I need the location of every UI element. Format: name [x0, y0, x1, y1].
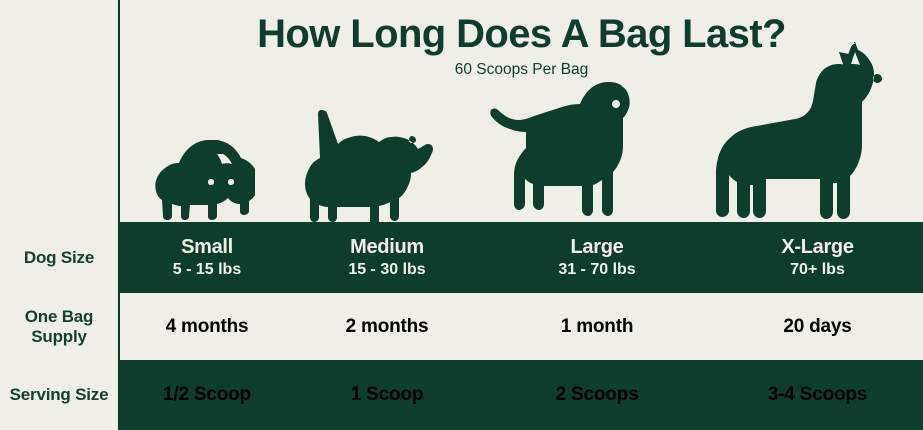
weight-range-large: 31 - 70 lbs [558, 261, 635, 279]
supply-value-medium: 2 months [346, 316, 429, 338]
serving-value-large: 2 Scoops [556, 384, 639, 406]
size-name-large: Large [571, 236, 624, 258]
row-label-serving-size: Serving Size [0, 360, 118, 430]
cell-supply-large: 1 month [482, 293, 712, 360]
row-label-dog-size: Dog Size [0, 222, 118, 293]
supply-value-xlarge: 20 days [783, 316, 851, 338]
supply-value-small: 4 months [166, 316, 249, 338]
row-serving-size-cells: 1/2 Scoop 1 Scoop 2 Scoops 3-4 Scoops [120, 360, 923, 430]
cell-supply-xlarge: 20 days [712, 293, 923, 360]
weight-range-medium: 15 - 30 lbs [348, 261, 425, 279]
cell-dog-size-xlarge: X-Large 70+ lbs [712, 222, 923, 293]
row-one-bag-supply-cells: 4 months 2 months 1 month 20 days [120, 293, 923, 360]
cell-supply-small: 4 months [122, 293, 292, 360]
beagle-dog-silhouette-icon [303, 100, 443, 222]
dog-silhouette-row [120, 0, 923, 222]
row-dog-size: Dog Size Small 5 - 15 lbs Medium 15 - 30… [0, 222, 923, 293]
dog-feeding-guide-infographic: How Long Does A Bag Last? 60 Scoops Per … [0, 0, 923, 430]
cell-serving-large: 2 Scoops [482, 360, 712, 430]
serving-value-medium: 1 Scoop [351, 384, 424, 406]
row-label-one-bag-supply: One Bag Supply [0, 293, 118, 360]
supply-value-large: 1 month [561, 316, 634, 338]
cell-dog-size-large: Large 31 - 70 lbs [482, 222, 712, 293]
cell-dog-size-medium: Medium 15 - 30 lbs [292, 222, 482, 293]
cell-serving-small: 1/2 Scoop [122, 360, 292, 430]
cell-serving-medium: 1 Scoop [292, 360, 482, 430]
serving-value-small: 1/2 Scoop [163, 384, 251, 406]
cell-dog-size-small: Small 5 - 15 lbs [122, 222, 292, 293]
great-dane-dog-silhouette-icon [705, 42, 903, 222]
serving-value-xlarge: 3-4 Scoops [768, 384, 867, 406]
row-dog-size-cells: Small 5 - 15 lbs Medium 15 - 30 lbs Larg… [120, 222, 923, 293]
size-name-small: Small [181, 236, 233, 258]
cell-serving-xlarge: 3-4 Scoops [712, 360, 923, 430]
pug-dog-silhouette-icon [143, 134, 255, 222]
weight-range-small: 5 - 15 lbs [173, 261, 241, 279]
size-name-medium: Medium [350, 236, 424, 258]
weight-range-xlarge: 70+ lbs [790, 261, 845, 279]
labrador-dog-silhouette-icon [480, 78, 644, 222]
size-name-xlarge: X-Large [781, 236, 853, 258]
row-serving-size: Serving Size 1/2 Scoop 1 Scoop 2 Scoops … [0, 360, 923, 430]
cell-supply-medium: 2 months [292, 293, 482, 360]
row-one-bag-supply: One Bag Supply 4 months 2 months 1 month… [0, 293, 923, 360]
